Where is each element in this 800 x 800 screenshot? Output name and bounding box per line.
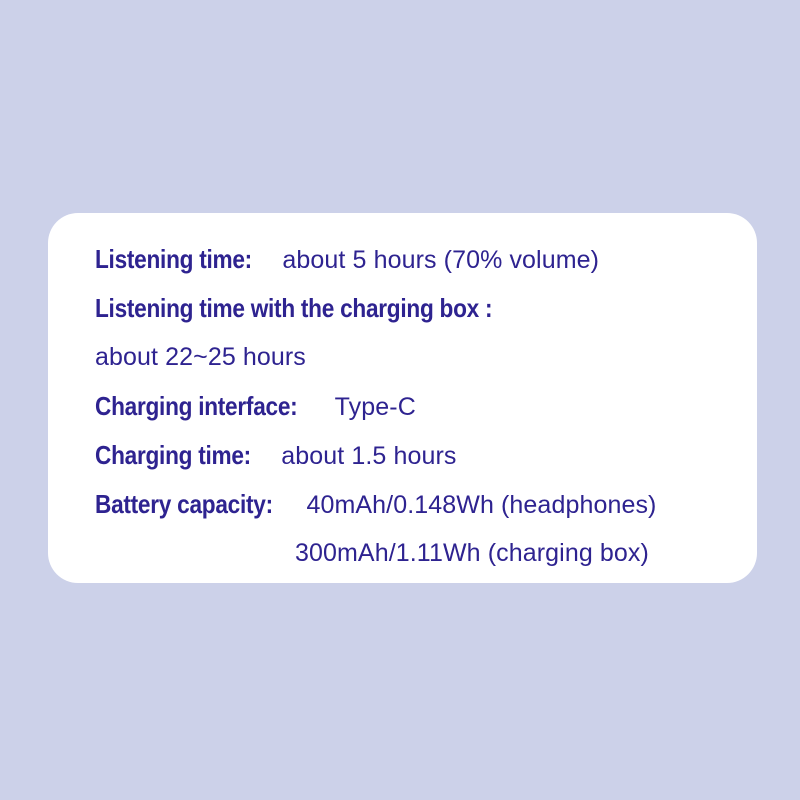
spec-value: Type-C (335, 383, 416, 432)
spec-row: Battery capacity:40mAh/0.148Wh (headphon… (48, 480, 757, 529)
spec-value: 40mAh/0.148Wh (headphones) (306, 481, 656, 530)
spec-row: Charging interface:Type-C (48, 382, 757, 431)
spec-value: about 5 hours (70% volume) (282, 236, 599, 285)
spec-row: Listening time with the charging box : (48, 284, 757, 333)
spec-value: about 22~25 hours (95, 333, 306, 382)
spec-label: Battery capacity: (95, 480, 273, 529)
spec-label: Charging time: (95, 431, 251, 480)
spec-row: about 22~25 hours (48, 333, 757, 382)
spec-row: Charging time:about 1.5 hours (48, 431, 757, 480)
spec-row: Listening time:about 5 hours (70% volume… (48, 235, 757, 284)
spec-value: 300mAh/1.11Wh (charging box) (295, 529, 649, 578)
specification-list: Listening time:about 5 hours (70% volume… (48, 235, 757, 578)
spec-row: 300mAh/1.11Wh (charging box) (48, 529, 757, 578)
specification-card: Listening time:about 5 hours (70% volume… (48, 213, 757, 583)
spec-label: Charging interface: (95, 382, 297, 431)
spec-label: Listening time: (95, 235, 252, 284)
page-root: Listening time:about 5 hours (70% volume… (0, 0, 800, 800)
spec-value: about 1.5 hours (281, 432, 456, 481)
spec-label: Listening time with the charging box : (95, 284, 492, 333)
